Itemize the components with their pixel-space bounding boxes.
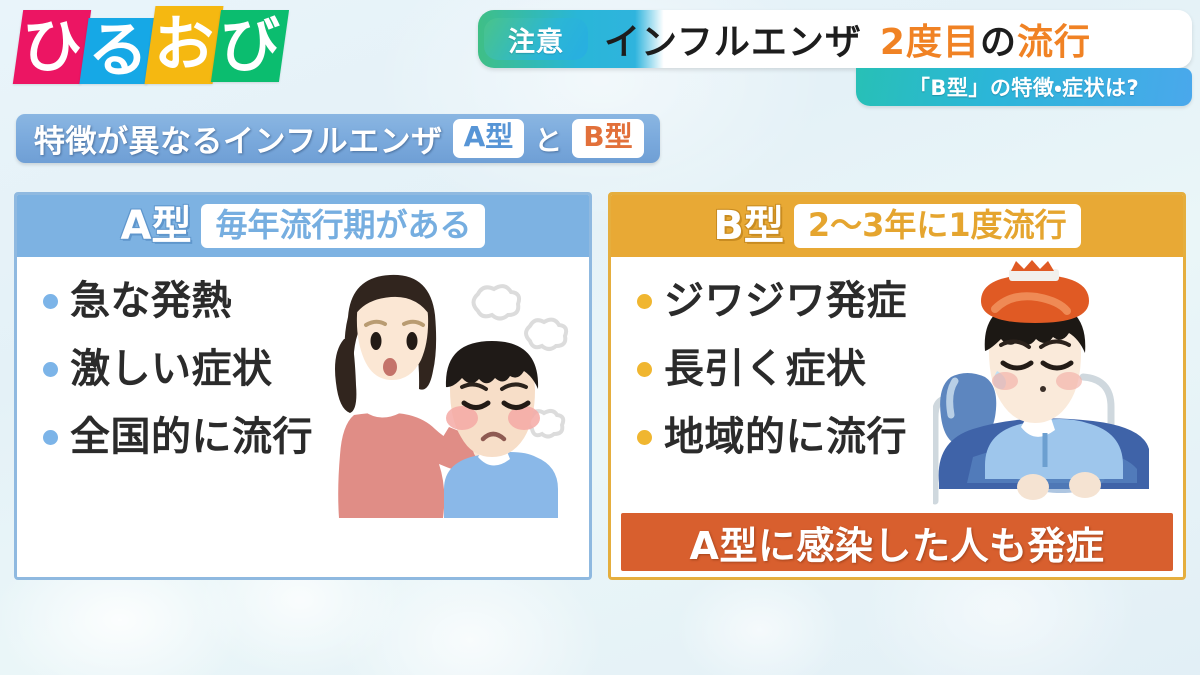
title-pill-type-b: B型	[572, 119, 643, 157]
bullet-dot-icon	[637, 430, 652, 445]
logo-block-hi: ひ	[13, 10, 91, 84]
list-item: 長引く症状	[637, 347, 907, 391]
right-hand	[1069, 472, 1101, 498]
caution-tab-label: 注意	[508, 20, 564, 59]
mother-left-eye	[371, 332, 382, 350]
left-cheek-flush	[992, 372, 1018, 390]
panel-b-bullet-1: ジワジワ発症	[664, 279, 907, 323]
bullet-dot-icon	[43, 294, 58, 309]
panel-a-body: 急な発熱 激しい症状 全国的に流行	[17, 257, 589, 580]
panel-b-header-note: 2〜3年に1度流行	[794, 204, 1081, 249]
patient-mouth	[1040, 386, 1046, 392]
bullet-dot-icon	[637, 294, 652, 309]
panel-a-bullet-2: 激しい症状	[70, 347, 273, 391]
logo-char-ru: る	[88, 21, 148, 81]
list-item: ジワジワ発症	[637, 279, 907, 323]
logo-char-bi: び	[220, 16, 280, 76]
panel-a-bullet-list: 急な発熱 激しい症状 全国的に流行	[43, 279, 313, 459]
bullet-dot-icon	[43, 430, 58, 445]
subheadline-banner: 「B型」の特徴・症状は?	[856, 68, 1192, 106]
headline-banner: 注意 インフルエンザ 2度目の流行	[478, 10, 1192, 68]
headline-disease-name: インフルエンザ	[604, 13, 862, 65]
panel-b-bullet-2: 長引く症状	[664, 347, 867, 391]
panel-a-bullet-3: 全国的に流行	[70, 415, 313, 459]
headline-particle: の	[980, 22, 1017, 63]
section-title-text: 特徴が異なるインフルエンザ	[34, 116, 443, 161]
headline-text-group: インフルエンザ 2度目の流行	[604, 10, 1178, 68]
panel-a-bullet-1: 急な発熱	[70, 279, 232, 323]
panel-a-type-label: A型	[121, 206, 192, 246]
bullet-dot-icon	[637, 362, 652, 377]
section-title-bar: 特徴が異なるインフルエンザ A型 と B型	[16, 114, 660, 163]
mother-and-sick-boy-illustration	[320, 263, 585, 518]
mother-mouth	[383, 358, 397, 376]
list-item: 全国的に流行	[43, 415, 313, 459]
logo-char-hi: ひ	[22, 17, 82, 77]
panel-b-type-label: B型	[713, 206, 784, 246]
headline-wave-phrase: 2度目の流行	[880, 13, 1091, 65]
right-cheek-flush	[1056, 372, 1082, 390]
list-item: 激しい症状	[43, 347, 313, 391]
logo-block-bi: び	[211, 10, 289, 82]
mother-right-eye	[407, 332, 418, 350]
headline-wave-count: 2度目	[880, 22, 980, 63]
headline-epidemic: 流行	[1017, 22, 1091, 63]
list-item: 地域的に流行	[637, 415, 907, 459]
list-item: 急な発熱	[43, 279, 313, 323]
program-logo: ひ る お び	[18, 6, 282, 84]
panel-b-body: ジワジワ発症 長引く症状 地域的に流行 A型に感染した人も発症	[611, 257, 1183, 580]
left-hand	[1017, 474, 1049, 500]
panel-a-header: A型 毎年流行期がある	[17, 195, 589, 257]
panel-b-bullet-3: 地域的に流行	[664, 415, 907, 459]
title-pill-type-a: A型	[453, 119, 525, 157]
panel-b-footer-label: A型に感染した人も発症	[690, 515, 1105, 570]
panel-a-header-note: 毎年流行期がある	[201, 204, 485, 249]
title-conjunction: と	[534, 119, 562, 159]
caution-tab: 注意	[484, 18, 588, 60]
panel-type-a: A型 毎年流行期がある	[14, 192, 592, 580]
panel-b-header: B型 2〜3年に1度流行	[611, 195, 1183, 257]
panel-b-footer-note: A型に感染した人も発症	[621, 513, 1173, 571]
panel-type-b: B型 2〜3年に1度流行	[608, 192, 1186, 580]
logo-char-o: お	[154, 15, 214, 75]
boy-in-bed-illustration	[933, 259, 1183, 509]
bullet-dot-icon	[43, 362, 58, 377]
subheadline-label: 「B型」の特徴・症状は?	[909, 72, 1139, 102]
mother-ponytail	[335, 339, 356, 413]
ice-pack-cap	[1011, 260, 1054, 271]
broadcast-graphic: ひ る お び 注意 インフルエンザ 2度目の流行 「B型」の特徴・症状は? 特…	[0, 0, 1200, 675]
panel-b-bullet-list: ジワジワ発症 長引く症状 地域的に流行	[637, 279, 907, 459]
